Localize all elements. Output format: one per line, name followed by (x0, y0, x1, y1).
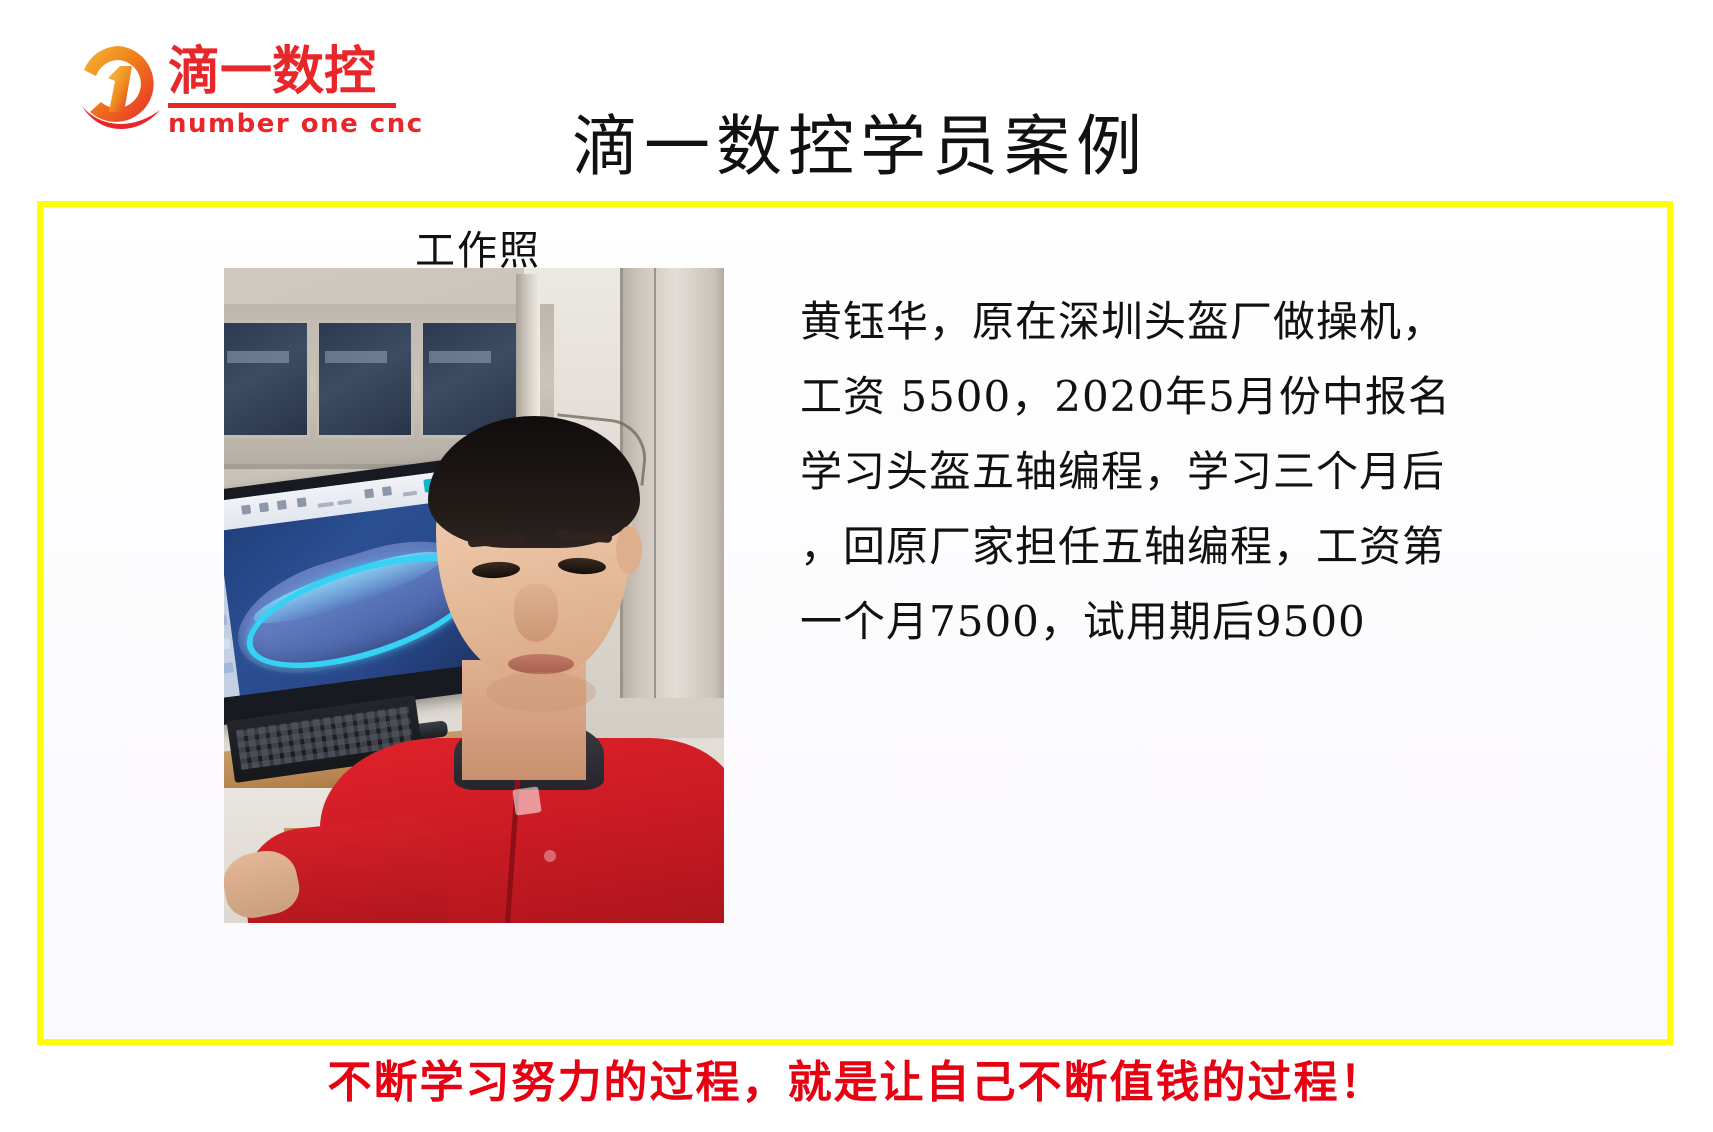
photo-door-seam (654, 268, 656, 698)
story-line-5: 一个月7500，试用期后9500 (800, 584, 1530, 659)
student-story: 黄钰华，原在深圳头盔厂做操机， 工资 5500，2020年5月份中报名 学习头盔… (800, 284, 1530, 659)
student-work-photo (224, 268, 724, 923)
story-line-4: ，回原厂家担任五轴编程，工资第 (800, 509, 1530, 584)
photo-cabinet-pane-1 (224, 320, 310, 438)
photo-person-chin (486, 672, 596, 712)
brand-rule (168, 103, 396, 108)
number-one-circle-swoosh-icon (68, 40, 168, 140)
brand-wordmark: 滴一数控 number one cnc (168, 42, 398, 138)
photo-cabinet-pane-2 (316, 320, 414, 438)
story-line-1: 黄钰华，原在深圳头盔厂做操机， (800, 284, 1530, 359)
slide-canvas: 滴一数控 number one cnc 滴一数控学员案例 工作照 (0, 0, 1713, 1132)
photo-person-mouth (508, 654, 574, 674)
photo-cad-sidebar (224, 533, 240, 698)
photo-content (224, 268, 724, 923)
brand-name-cn: 滴一数控 (168, 42, 398, 102)
story-line-3: 学习头盔五轴编程，学习三个月后 (800, 434, 1530, 509)
photo-person-ear (616, 526, 642, 574)
footer-slogan: 不断学习努力的过程，就是让自己不断值钱的过程！ (0, 1055, 1713, 1111)
story-line-2: 工资 5500，2020年5月份中报名 (800, 359, 1530, 434)
photo-jacket-button (544, 850, 556, 862)
brand-name-en: number one cnc (168, 110, 398, 138)
page-title: 滴一数控学员案例 (440, 108, 1280, 186)
photo-jacket-emblem (512, 786, 541, 815)
photo-person-nose (514, 584, 558, 642)
brand-logo: 滴一数控 number one cnc (68, 38, 398, 143)
